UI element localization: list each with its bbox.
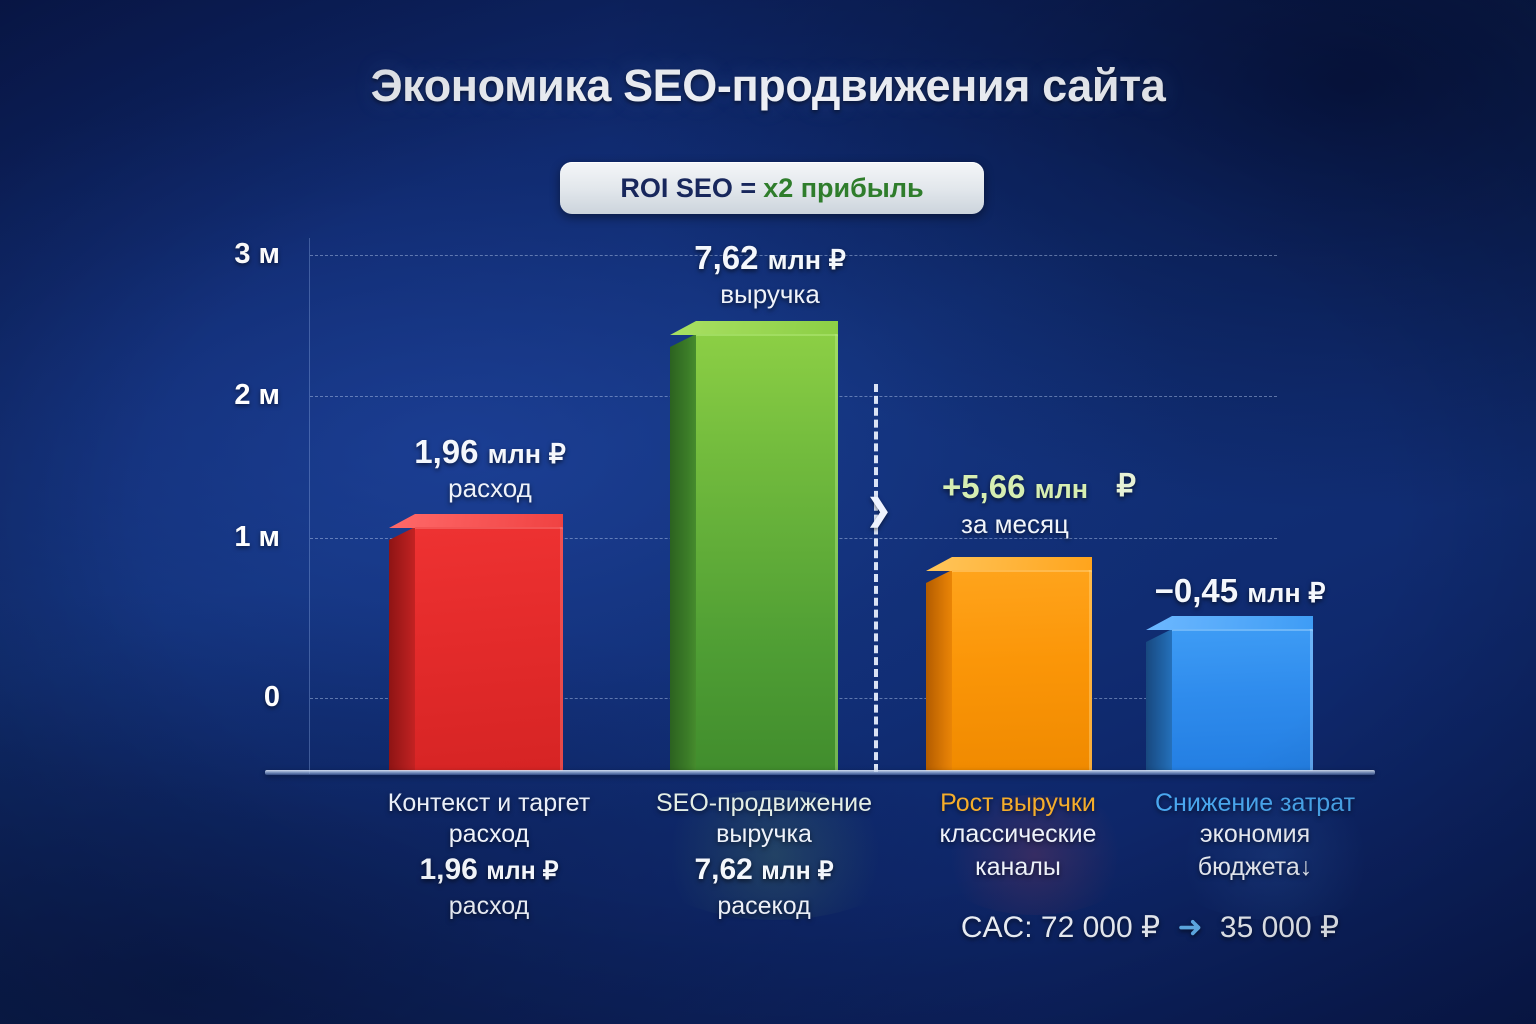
bar-revenue-face (696, 334, 838, 771)
category-line2-context: расход (348, 818, 630, 851)
y-tick-label-2m: 2 м (234, 379, 280, 412)
category-column-context[interactable]: Контекст и таргет расход 1,96 млн ₽ расх… (348, 788, 630, 922)
category-line3-growth: каналы (912, 851, 1124, 884)
category-column-saving[interactable]: Снижение затрат экономия бюджета↓ (1135, 788, 1375, 884)
bar-saving-side (1146, 629, 1172, 771)
bar-saving-face (1172, 629, 1313, 771)
category-foot-seo: расекод (625, 890, 903, 922)
bar-saving-top (1146, 616, 1313, 630)
callout-expense: 1,96 млн ₽ расход (360, 433, 620, 504)
category-label-saving: Снижение затрат (1135, 788, 1375, 818)
category-label-growth: Рост выручки (912, 788, 1124, 818)
category-foot-context: расход (348, 890, 630, 922)
divider-dashed-line (874, 384, 878, 772)
callout-revenue: 7,62 млн ₽ выручка (640, 239, 900, 310)
category-column-growth[interactable]: Рост выручки классические каналы (912, 788, 1124, 884)
bar-growth-side (926, 570, 952, 771)
y-tick-label-3m: 3 м (234, 238, 280, 271)
category-value-seo: 7,62 млн ₽ (625, 851, 903, 890)
category-column-seo[interactable]: SEO-продвижение выручка 7,62 млн ₽ расек… (625, 788, 903, 922)
y-tick-label-0: 0 (264, 681, 280, 714)
cac-from: 72 000 ₽ (1041, 911, 1160, 944)
bar-growth-face (952, 570, 1092, 771)
arrow-right-icon: ➜ (1177, 911, 1202, 944)
bar-growth-top (926, 557, 1092, 571)
cac-to: 35 000 ₽ (1220, 911, 1339, 944)
bar-revenue-top (670, 321, 838, 335)
bar-growth[interactable] (952, 570, 1092, 771)
bar-revenue[interactable] (696, 334, 838, 771)
x-axis-baseline (265, 770, 1375, 775)
category-line2-saving: экономия (1135, 818, 1375, 851)
bar-expense-top (389, 514, 563, 528)
callout-revenue-value: 7,62 млн ₽ (640, 239, 900, 277)
y-tick-label-1m: 1 м (234, 521, 280, 554)
chevron-right-icon: ❯ (866, 494, 892, 528)
bar-expense-face (415, 527, 563, 771)
callout-revenue-caption: выручка (640, 279, 900, 310)
callout-delta-value: +5,66 млн₽ (890, 468, 1140, 506)
category-label-context: Контекст и таргет (348, 788, 630, 818)
chart-plot-area: 3 м 2 м 1 м 0 1,96 млн ₽ расход 7,62 млн… (0, 0, 1536, 1024)
cac-label: CAC: (961, 911, 1033, 944)
bar-revenue-side (670, 334, 696, 771)
category-label-seo: SEO-продвижение (625, 788, 903, 818)
category-line3-saving: бюджета↓ (1135, 851, 1375, 884)
callout-delta: +5,66 млн₽ за месяц (890, 468, 1140, 540)
callout-saving: −0,45 млн ₽ (1110, 572, 1370, 610)
category-line2-seo: выручка (625, 818, 903, 851)
callout-delta-caption: за месяц (890, 509, 1140, 540)
bar-expense-side (389, 527, 415, 771)
cac-summary: CAC: 72 000 ₽ ➜ 35 000 ₽ (900, 910, 1400, 945)
callout-saving-value: −0,45 млн ₽ (1110, 572, 1370, 610)
category-line2-growth: классические (912, 818, 1124, 851)
bar-saving[interactable] (1172, 629, 1313, 771)
callout-expense-value: 1,96 млн ₽ (360, 433, 620, 471)
bar-expense[interactable] (415, 527, 563, 771)
category-value-context: 1,96 млн ₽ (348, 851, 630, 890)
callout-expense-caption: расход (360, 473, 620, 504)
y-axis-line (309, 238, 310, 774)
